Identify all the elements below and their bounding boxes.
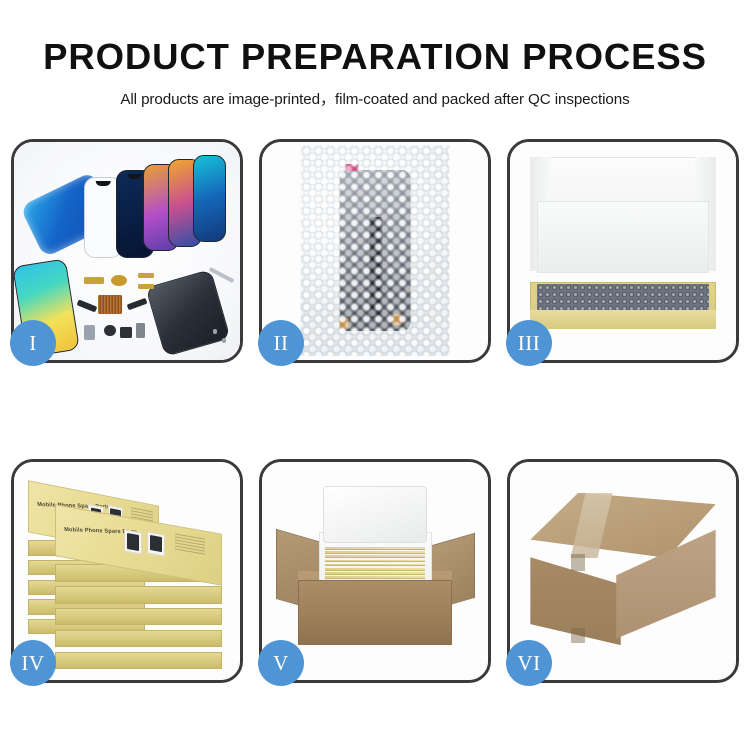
- teal-display-icon: [193, 155, 227, 242]
- foam-lid-icon: [323, 486, 427, 543]
- carton-seam-icon: [571, 554, 585, 571]
- step-badge-4: IV: [10, 640, 56, 686]
- process-step-3: III: [507, 139, 739, 363]
- step-badge-2: II: [258, 320, 304, 366]
- stacked-box-side: [55, 652, 222, 669]
- vibrator-part-icon: [104, 325, 115, 336]
- bubble-wrapped-contents-icon: [537, 284, 709, 310]
- step-badge-3: III: [506, 320, 552, 366]
- carton-front-wall-icon: [298, 580, 452, 645]
- battery-connector-part-icon: [136, 323, 145, 338]
- speaker-part-icon: [111, 275, 127, 286]
- process-step-2: II: [259, 139, 491, 363]
- notch-icon: [128, 174, 143, 179]
- process-step-4: Mobile Phone Spare Parts Mobile Phone Sp…: [11, 459, 243, 683]
- box-spec-lines: [175, 533, 205, 556]
- stacked-box-side: [55, 630, 222, 647]
- camera-module-part-icon: [84, 325, 95, 340]
- stacked-box-side: [55, 608, 222, 625]
- notch-icon: [96, 181, 111, 186]
- button-flex-part-icon: [138, 273, 154, 278]
- stacked-box-side: [55, 586, 222, 603]
- bubble-wrap-bag-icon: [300, 145, 449, 356]
- process-step-5: V: [259, 459, 491, 683]
- box-product-photo: [147, 531, 165, 556]
- carton-seam-icon: [571, 628, 585, 643]
- process-step-6: VI: [507, 459, 739, 683]
- process-step-1: I: [11, 139, 243, 363]
- page-subtitle: All products are image-printed，film-coat…: [0, 87, 750, 109]
- foam-sheet-icon: [537, 201, 709, 273]
- product-preparation-infographic: PRODUCT PREPARATION PROCESS All products…: [0, 0, 750, 750]
- header: PRODUCT PREPARATION PROCESS All products…: [0, 0, 750, 109]
- box-product-photo: [123, 529, 141, 554]
- step-badge-6: VI: [506, 640, 552, 686]
- sim-tray-part-icon: [84, 277, 104, 284]
- tray-front-face-icon: [530, 310, 715, 330]
- volume-flex-part-icon: [138, 284, 154, 289]
- bubble-texture-overlay: [300, 145, 449, 356]
- page-title: PRODUCT PREPARATION PROCESS: [0, 36, 750, 78]
- screw-part-icon: [222, 338, 227, 342]
- step-badge-5: V: [258, 640, 304, 686]
- step-badge-1: I: [10, 320, 56, 366]
- chip-grid-part-icon: [98, 295, 123, 315]
- process-step-grid: I II: [11, 139, 739, 694]
- connector-part-icon: [120, 327, 131, 338]
